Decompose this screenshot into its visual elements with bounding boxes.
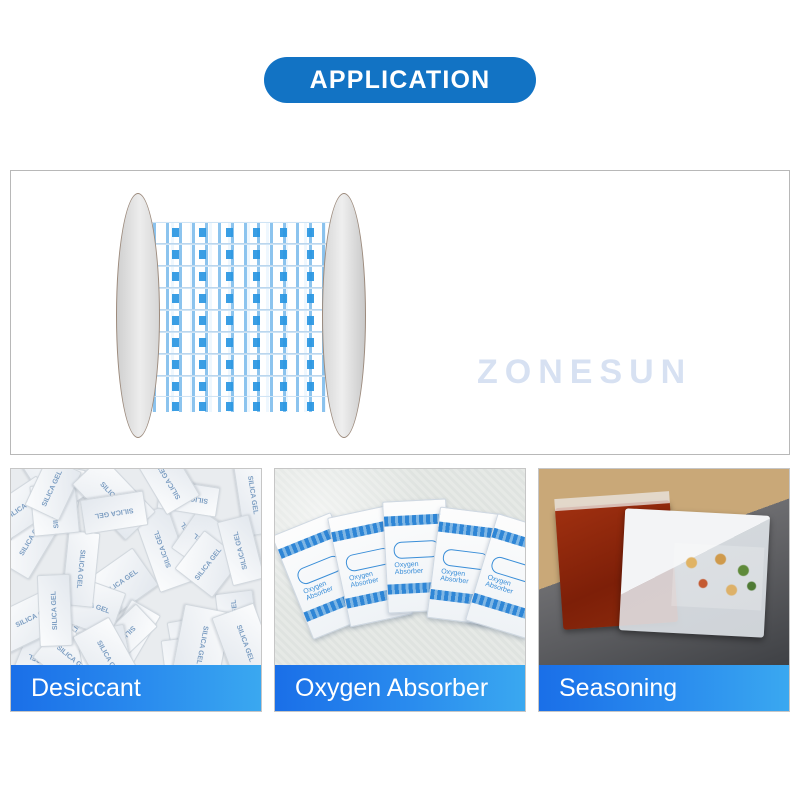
card-oxygen-absorber[interactable]: Oxygen AbsorberOxygen AbsorberOxygen Abs…: [274, 468, 526, 712]
card-oxygen-absorber-caption: Oxygen Absorber: [275, 665, 525, 711]
header: APPLICATION: [0, 0, 800, 103]
card-seasoning-image: [539, 469, 789, 665]
card-seasoning-caption: Seasoning: [539, 665, 789, 711]
card-desiccant-caption: Desiccant: [11, 665, 261, 711]
watermark-top: ZONESUN: [477, 353, 692, 392]
card-oxygen-absorber-image: Oxygen AbsorberOxygen AbsorberOxygen Abs…: [275, 469, 525, 665]
silica-gel-packet: SILICA GEL: [36, 574, 72, 647]
hero-panel: ZONESUN ZONESUN DESICCANT SILICA GEL "DO…: [10, 170, 790, 455]
application-badge: APPLICATION: [264, 57, 537, 103]
sachet-strip-stack: [136, 220, 348, 412]
vegetable-sachet: [618, 508, 769, 637]
card-desiccant[interactable]: SILICA GELSILICA GELSILICA GELSILICA GEL…: [10, 468, 262, 712]
spool-flange-right: [322, 193, 366, 438]
card-desiccant-image: SILICA GELSILICA GELSILICA GELSILICA GEL…: [11, 469, 261, 665]
dried-vegetable-bits: [671, 543, 764, 611]
card-seasoning[interactable]: Seasoning: [538, 468, 790, 712]
spool-flange-left: [116, 193, 160, 438]
sachet-roll-spool: [116, 193, 366, 438]
application-cards: SILICA GELSILICA GELSILICA GELSILICA GEL…: [10, 468, 790, 712]
